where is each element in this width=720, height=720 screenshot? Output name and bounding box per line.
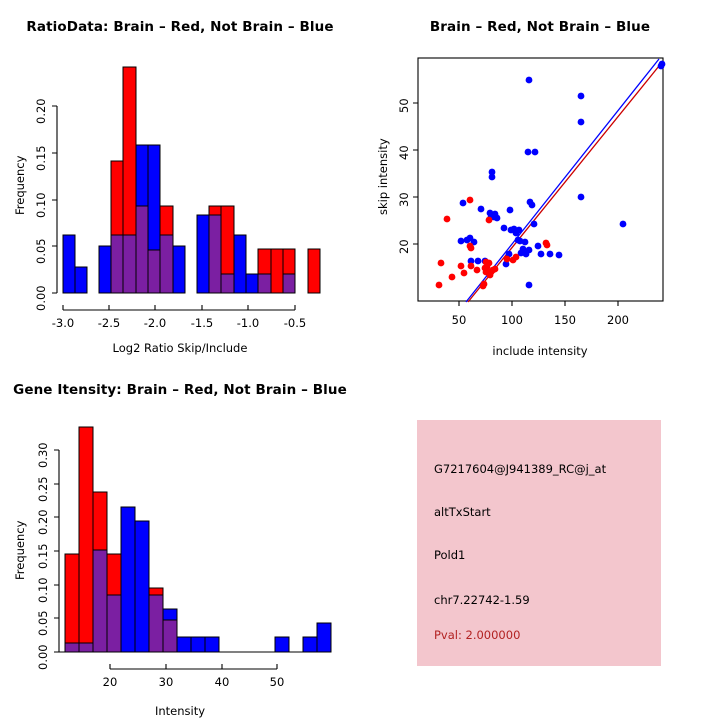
event-type-text: altTxStart (434, 505, 491, 519)
scatter-plot (360, 0, 720, 360)
scatter-ytick-1: 30 (397, 192, 411, 207)
gene-ytick-0: 0.00 (36, 644, 50, 670)
scatter-fit-lines (466, 59, 659, 302)
ratio-ytick-0: 0.00 (34, 285, 48, 311)
gene-histogram-plot (0, 360, 360, 720)
ratio-xtick-5: -0.5 (277, 316, 313, 330)
probe-id-text: G7217604@J941389_RC@j_at (434, 462, 606, 476)
gene-xtick-0: 20 (92, 675, 128, 689)
ratio-ytick-2: 0.10 (34, 192, 48, 218)
gene-xtick-2: 40 (204, 675, 240, 689)
gene-ytick-6: 0.30 (36, 442, 50, 468)
scatter-xtick-2: 150 (547, 313, 583, 327)
ratio-ytick-4: 0.20 (34, 98, 48, 124)
scatter-frame (418, 58, 663, 301)
panel-gene-intensity-histogram: Gene Itensity: Brain – Red, Not Brain – … (0, 360, 360, 720)
gene-ytick-4: 0.20 (36, 509, 50, 535)
gene-ytick-1: 0.05 (36, 610, 50, 636)
gene-xtick-1: 30 (148, 675, 184, 689)
scatter-xtick-0: 50 (441, 313, 477, 327)
scatter-axes (413, 103, 618, 306)
ratio-xtick-3: -1.5 (184, 316, 220, 330)
gene-ytick-2: 0.10 (36, 577, 50, 603)
ratio-xtick-2: -2.0 (137, 316, 173, 330)
panel-probe-info: G7217604@J941389_RC@j_at altTxStart Pold… (417, 420, 661, 666)
gene-symbol-text: Pold1 (434, 548, 465, 562)
scatter-ytick-0: 20 (397, 239, 411, 254)
ratio-histogram-bars (63, 67, 320, 293)
ratio-xtick-4: -1.0 (230, 316, 266, 330)
ratio-histogram-plot (0, 0, 360, 360)
scatter-ytick-3: 50 (397, 98, 411, 113)
ratio-ytick-3: 0.15 (34, 145, 48, 171)
gene-xtick-3: 50 (259, 675, 295, 689)
ratio-xtick-1: -2.5 (91, 316, 127, 330)
locus-text: chr7.22742-1.59 (434, 593, 530, 607)
panel-intensity-scatter: Brain – Red, Not Brain – Blue skip inten… (360, 0, 720, 360)
gene-histogram-bars (65, 427, 331, 652)
scatter-points-not-brain (458, 61, 666, 289)
scatter-points-brain (436, 197, 551, 290)
gene-ytick-5: 0.25 (36, 476, 50, 502)
panel-ratio-histogram: RatioData: Brain – Red, Not Brain – Blue… (0, 0, 360, 360)
scatter-xtick-3: 200 (600, 313, 636, 327)
scatter-xtick-1: 100 (494, 313, 530, 327)
gene-ytick-3: 0.15 (36, 543, 50, 569)
scatter-ytick-2: 40 (397, 145, 411, 160)
ratio-ytick-1: 0.05 (34, 238, 48, 264)
ratio-xtick-0: -3.0 (45, 316, 81, 330)
pval-text: Pval: 2.000000 (434, 628, 520, 642)
